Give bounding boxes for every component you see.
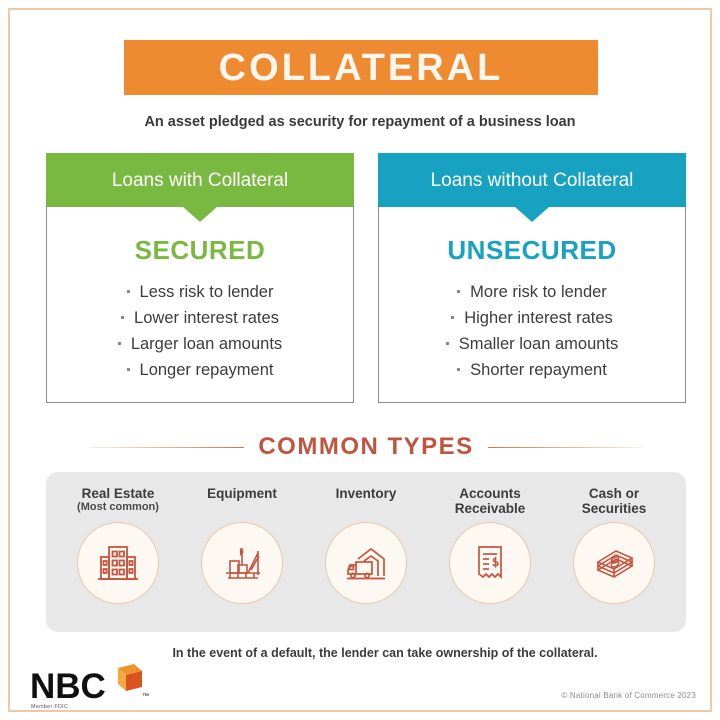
truck-warehouse-icon <box>325 522 407 604</box>
common-type-label: Accounts Receivable <box>455 486 526 518</box>
list-item: More risk to lender <box>457 279 607 305</box>
page-title: COLLATERAL <box>219 49 504 87</box>
list-item: Less risk to lender <box>127 279 274 305</box>
invoice-dollar-icon <box>449 522 531 604</box>
title-banner: COLLATERAL <box>124 40 598 95</box>
common-types-title: COMMON TYPES <box>258 435 473 459</box>
column-secured: Loans with Collateral SECURED Less risk … <box>46 153 354 403</box>
common-type-label: Inventory <box>336 486 397 518</box>
chevron-down-icon <box>183 207 217 222</box>
unsecured-bullet-list: More risk to lender Higher interest rate… <box>379 279 685 383</box>
common-type-equipment: Equipment <box>183 486 301 604</box>
column-unsecured: Loans without Collateral UNSECURED More … <box>378 153 686 403</box>
common-type-real-estate: Real Estate (Most common) <box>59 486 177 604</box>
footer-note: In the event of a default, the lender ca… <box>10 646 710 660</box>
comparison-section: Loans with Collateral SECURED Less risk … <box>46 153 686 403</box>
nbc-logo: NBC ™ Member FDIC <box>30 660 160 716</box>
divider-line-left <box>89 447 244 448</box>
logo-sub: Member FDIC <box>31 704 68 710</box>
common-types-panel: Real Estate (Most common) <box>46 472 686 632</box>
page-subtitle: An asset pledged as security for repayme… <box>10 114 710 130</box>
copyright-text: © National Bank of Commerce 2023 <box>561 691 696 700</box>
svg-text:™: ™ <box>142 693 149 700</box>
machinery-icon <box>201 522 283 604</box>
list-item: Shorter repayment <box>457 357 607 383</box>
chevron-down-icon <box>515 207 549 222</box>
infographic-frame: COLLATERAL An asset pledged as security … <box>8 8 712 712</box>
common-type-cash-securities: Cash or Securities <box>555 486 673 604</box>
common-type-label-main: Accounts Receivable <box>455 486 526 516</box>
column-secured-header: Loans with Collateral <box>46 153 354 207</box>
list-item: Larger loan amounts <box>118 331 282 357</box>
common-type-label-main: Cash or Securities <box>582 486 647 516</box>
column-unsecured-header-label: Loans without Collateral <box>431 171 634 190</box>
list-item: Higher interest rates <box>451 305 613 331</box>
list-item: Lower interest rates <box>121 305 279 331</box>
secured-bullet-list: Less risk to lender Lower interest rates… <box>47 279 353 383</box>
common-type-label-main: Equipment <box>207 486 277 501</box>
common-type-label-main: Real Estate <box>82 486 155 501</box>
column-unsecured-kicker: UNSECURED <box>379 237 685 263</box>
common-type-inventory: Inventory <box>307 486 425 604</box>
svg-text:NBC: NBC <box>30 667 106 706</box>
divider-line-right <box>488 447 643 448</box>
common-type-label: Cash or Securities <box>582 486 647 518</box>
common-type-label: Real Estate (Most common) <box>77 486 159 518</box>
column-unsecured-header: Loans without Collateral <box>378 153 686 207</box>
building-icon <box>77 522 159 604</box>
column-secured-header-label: Loans with Collateral <box>112 171 288 190</box>
common-type-label-main: Inventory <box>336 486 397 501</box>
common-type-sublabel: (Most common) <box>77 501 159 513</box>
common-types-heading: COMMON TYPES <box>46 430 686 464</box>
cash-stack-icon <box>573 522 655 604</box>
common-type-accounts-receivable: Accounts Receivable <box>431 486 549 604</box>
common-type-label: Equipment <box>207 486 277 518</box>
list-item: Longer repayment <box>127 357 274 383</box>
column-secured-kicker: SECURED <box>47 237 353 263</box>
list-item: Smaller loan amounts <box>446 331 619 357</box>
